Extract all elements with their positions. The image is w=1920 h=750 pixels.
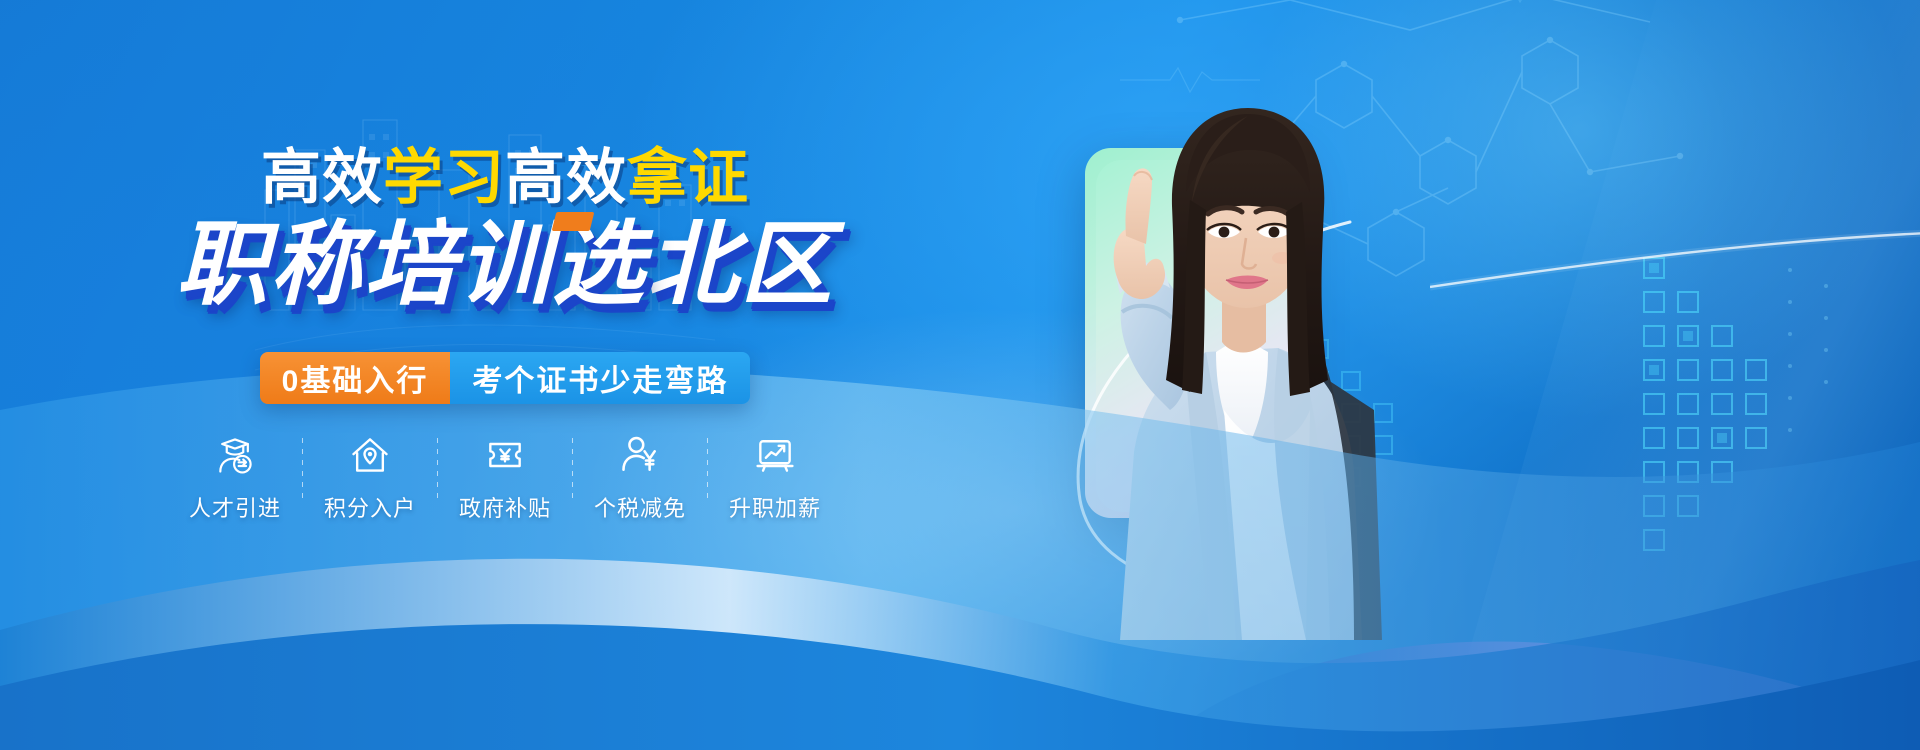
light-streak-line xyxy=(1430,175,1920,305)
promo-banner: 2 39 xyxy=(0,0,1920,750)
kicker-highlight-1: 学习 xyxy=(383,144,505,211)
badge-right-segment: 考个证书少走弯路 xyxy=(450,352,750,404)
feature-label: 人才引进 xyxy=(189,491,281,523)
feature-item-government-subsidy[interactable]: 政府补贴 xyxy=(438,432,572,523)
kicker-part-1: 高效 xyxy=(261,144,383,211)
growth-chart-icon xyxy=(753,432,797,478)
feature-label: 个税减免 xyxy=(594,491,686,523)
status-badge: 0基础入行 考个证书少走弯路 xyxy=(260,352,751,404)
feature-label: 积分入户 xyxy=(324,491,416,523)
graduate-person-icon xyxy=(213,432,257,478)
feature-list: 人才引进 积分入户 xyxy=(0,432,1010,523)
copy-block: 高效学习高效拿证 职称培训选北区 0基础入行 考个证书少走弯路 xyxy=(0,0,1010,750)
kicker-highlight-2: 拿证 xyxy=(627,144,749,211)
badge-row: 0基础入行 考个证书少走弯路 xyxy=(0,352,1010,404)
headline-after: 北区 xyxy=(646,214,834,316)
page-title: 职称培训选北区 xyxy=(0,218,1010,314)
feature-item-tax-reduction[interactable]: 个税减免 xyxy=(573,432,707,523)
person-yuan-icon xyxy=(618,432,662,478)
house-pin-icon xyxy=(348,432,392,478)
badge-left-segment: 0基础入行 xyxy=(260,352,451,404)
feature-item-promotion-raise[interactable]: 升职加薪 xyxy=(708,432,842,523)
kicker-line: 高效学习高效拿证 xyxy=(0,148,1010,208)
headline-marked-char: 选 xyxy=(552,218,646,314)
feature-label: 政府补贴 xyxy=(459,491,551,523)
feature-item-points-residency[interactable]: 积分入户 xyxy=(303,432,437,523)
ticket-yuan-icon xyxy=(483,432,527,478)
headline-before: 职称培训 xyxy=(176,214,552,316)
kicker-part-2: 高效 xyxy=(505,144,627,211)
feature-label: 升职加薪 xyxy=(729,491,821,523)
feature-item-talent-introduction[interactable]: 人才引进 xyxy=(168,432,302,523)
